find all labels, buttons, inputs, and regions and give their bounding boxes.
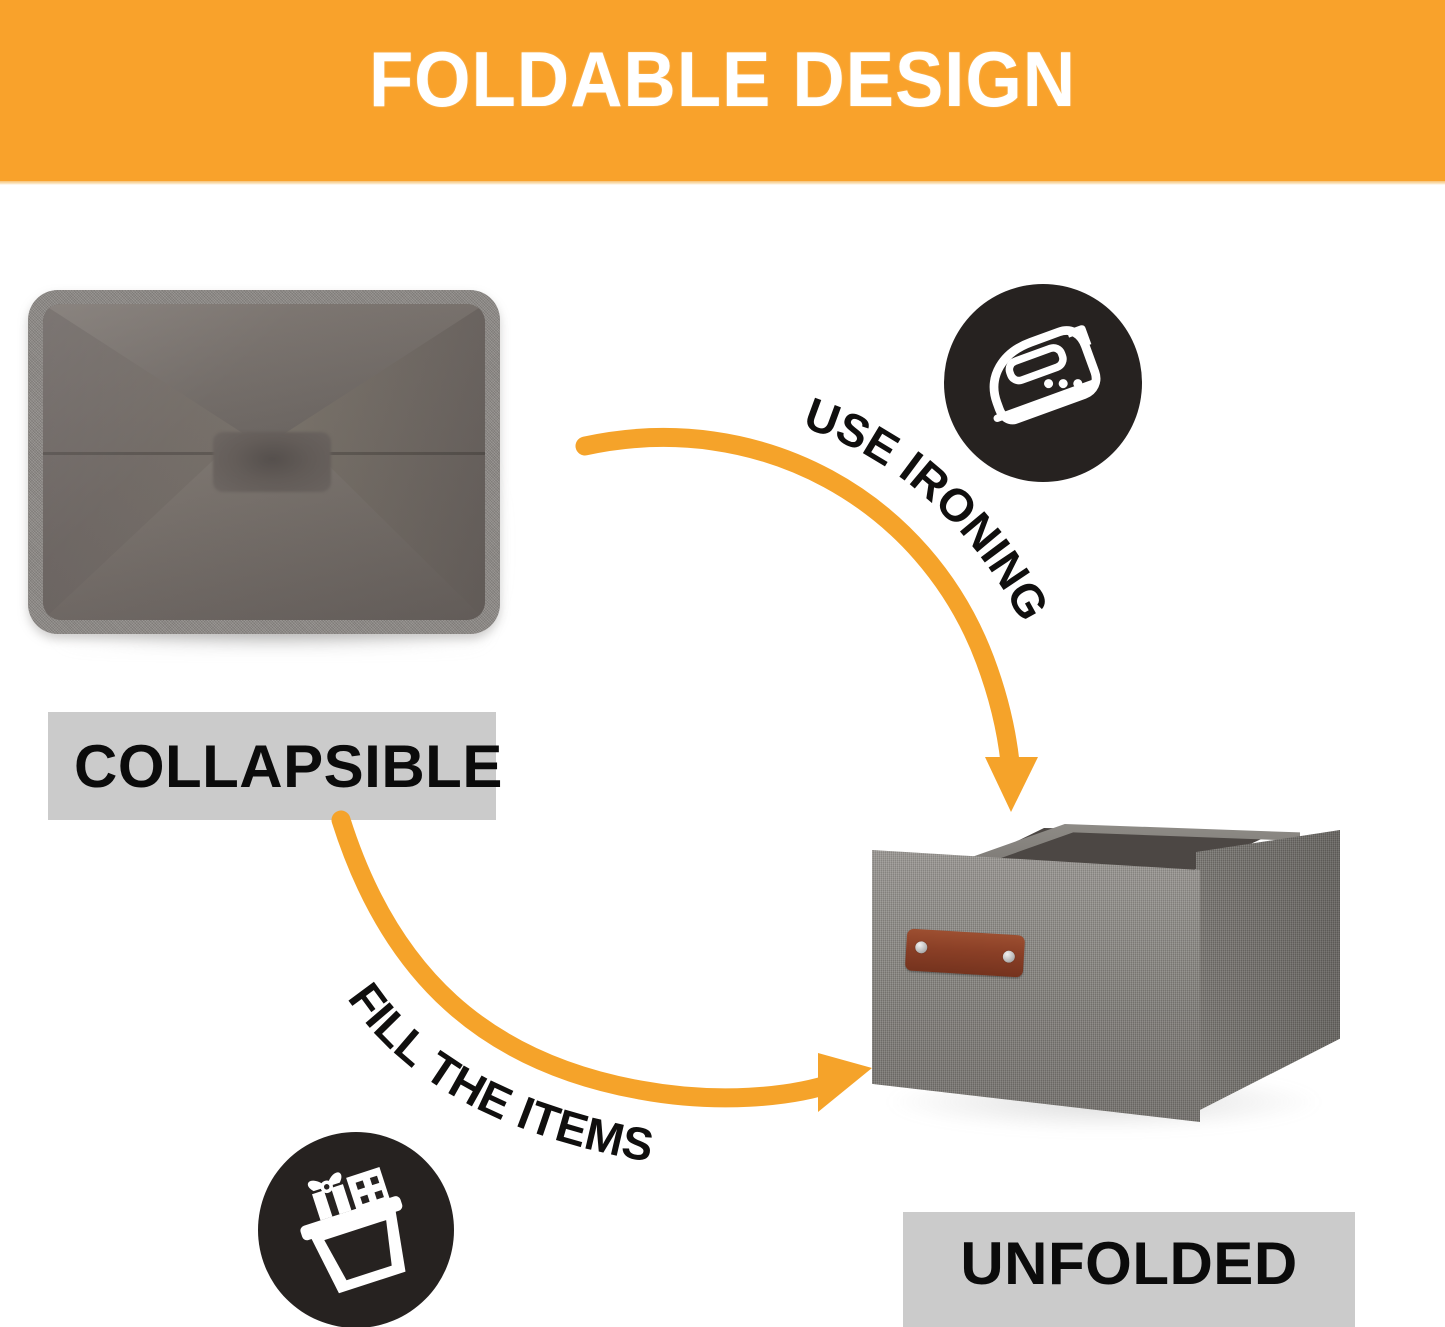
collapsible-label-text: COLLAPSIBLE	[48, 732, 503, 801]
use-ironing-arrowhead	[985, 757, 1038, 812]
fold-center-pinch	[213, 432, 331, 492]
front-shading	[872, 850, 1200, 1122]
gift-items-icon-badge	[258, 1132, 454, 1327]
fill-items-arrowhead	[818, 1053, 872, 1112]
header-banner: FOLDABLE DESIGN	[0, 0, 1445, 183]
folded-basket-inner-panel	[43, 304, 485, 620]
leather-handle	[905, 928, 1025, 977]
unfolded-basket-side-panel	[1196, 830, 1340, 1112]
page-title: FOLDABLE DESIGN	[51, 40, 1395, 118]
handle-rivet-right	[1003, 950, 1016, 963]
unfolded-label-plate: UNFOLDED	[903, 1212, 1355, 1327]
collapsible-label-plate: COLLAPSIBLE	[48, 712, 496, 820]
infographic-canvas: FOLDABLE DESIGN COLLAPSIBLE UNFOLDED	[0, 0, 1445, 1327]
use-ironing-arrow-path	[585, 437, 1010, 762]
gift-items-icon	[281, 1155, 431, 1305]
unfolded-basket-front-panel	[872, 850, 1200, 1122]
iron-icon	[968, 308, 1118, 458]
unfolded-label-text: UNFOLDED	[960, 1229, 1297, 1298]
iron-icon-badge	[944, 284, 1142, 482]
banner-underline	[0, 181, 1445, 185]
fold-crease-right	[305, 452, 485, 455]
folded-basket-body	[28, 290, 500, 634]
fold-crease-left	[43, 452, 223, 455]
handle-rivet-left	[915, 941, 928, 954]
fill-items-arrow-path	[341, 820, 836, 1098]
unfolded-basket-image	[866, 812, 1344, 1132]
folded-basket-image	[28, 290, 504, 640]
side-shading	[1196, 830, 1340, 1112]
